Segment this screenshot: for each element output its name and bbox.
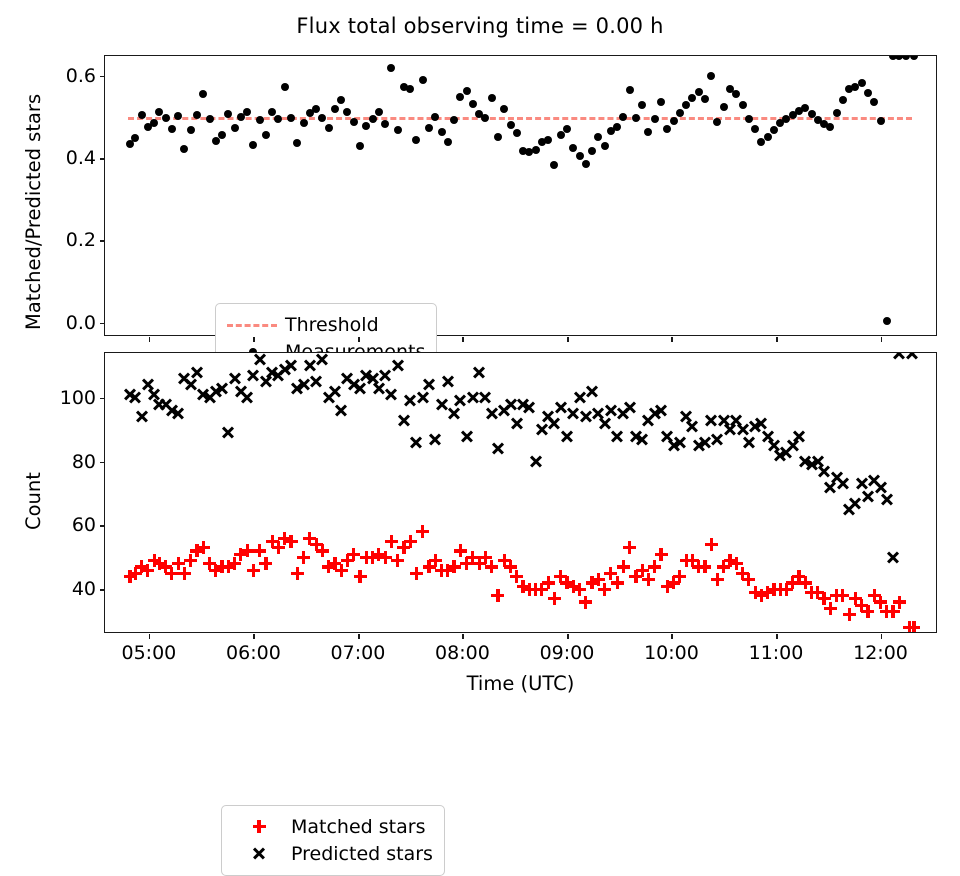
- data-point: [770, 126, 778, 134]
- data-point: [314, 353, 330, 367]
- data-point: [578, 594, 594, 610]
- data-point: [350, 118, 358, 126]
- data-point: [281, 83, 289, 91]
- data-point: [206, 115, 214, 123]
- y-axis-tick: [100, 462, 105, 464]
- data-point: [613, 123, 621, 131]
- data-point: [576, 152, 584, 160]
- data-point: [732, 90, 740, 98]
- data-point: [550, 161, 558, 169]
- ratio-plot-area: [105, 56, 936, 335]
- data-point: [653, 402, 669, 418]
- data-point: [609, 428, 625, 444]
- y-axis-tick: [100, 589, 105, 591]
- data-point: [883, 317, 891, 325]
- data-point: [544, 136, 552, 144]
- data-point: [408, 434, 424, 450]
- x-axis-tick: [881, 337, 883, 342]
- data-point: [651, 115, 659, 123]
- data-point: [337, 96, 345, 104]
- data-point: [902, 56, 910, 60]
- data-point: [318, 114, 326, 122]
- data-point: [150, 119, 158, 127]
- y-axis-tick: [100, 240, 105, 242]
- x-axis-tick: [462, 634, 464, 639]
- data-point: [609, 575, 625, 591]
- data-point: [682, 101, 690, 109]
- data-point: [509, 415, 525, 431]
- y-axis-label-top: Matched/Predicted stars: [22, 94, 45, 330]
- data-point: [375, 108, 383, 116]
- y-axis-tick: [100, 398, 105, 400]
- data-point: [231, 124, 239, 132]
- data-point: [891, 594, 907, 610]
- data-point: [325, 124, 333, 132]
- data-point: [193, 111, 201, 119]
- data-point: [713, 118, 721, 126]
- data-point: [287, 114, 295, 122]
- data-point: [189, 364, 205, 380]
- data-point: [739, 101, 747, 109]
- data-point: [507, 121, 515, 129]
- data-point: [791, 428, 807, 444]
- data-point: [906, 620, 922, 632]
- data-point: [343, 108, 351, 116]
- data-point: [421, 377, 437, 393]
- x-axis-tick-label: 10:00: [644, 642, 699, 664]
- legend-label: Predicted stars: [287, 843, 433, 865]
- data-point: [644, 128, 652, 136]
- data-point: [383, 387, 399, 403]
- data-point: [131, 134, 139, 142]
- data-point: [258, 556, 274, 572]
- data-point: [440, 374, 456, 390]
- y-axis-tick-label: 80: [72, 451, 96, 473]
- data-point: [701, 95, 709, 103]
- data-point: [427, 431, 443, 447]
- data-point: [584, 383, 600, 399]
- figure: Flux total observing time = 0.00 h Match…: [0, 0, 960, 720]
- data-point: [632, 114, 640, 122]
- data-point: [293, 139, 301, 147]
- data-point: [588, 147, 596, 155]
- x-axis-tick: [149, 634, 151, 639]
- data-point: [243, 108, 251, 116]
- data-point: [745, 115, 753, 123]
- y-axis-tick-label: 0.4: [66, 147, 96, 169]
- legend-label: Threshold: [281, 314, 379, 336]
- y-axis-tick-label: 0.2: [66, 229, 96, 251]
- data-point: [870, 98, 878, 106]
- data-point: [638, 101, 646, 109]
- x-axis-tick-label: 11:00: [749, 642, 804, 664]
- legend-count-panel: Matched stars Predicted stars: [221, 805, 445, 876]
- legend-item-threshold: Threshold: [225, 311, 425, 338]
- data-point: [415, 524, 431, 540]
- data-point: [490, 588, 506, 604]
- data-point: [670, 117, 678, 125]
- data-point: [283, 358, 299, 374]
- data-point: [268, 108, 276, 116]
- data-point: [672, 434, 688, 450]
- data-point: [741, 434, 757, 450]
- data-point: [653, 546, 669, 562]
- data-point: [626, 86, 634, 94]
- data-point: [138, 111, 146, 119]
- x-axis-tick: [776, 337, 778, 342]
- data-point: [212, 137, 220, 145]
- data-point: [835, 476, 851, 492]
- data-point: [333, 402, 349, 418]
- x-axis-tick: [776, 634, 778, 639]
- data-point: [546, 591, 562, 607]
- data-point: [396, 412, 412, 428]
- data-point: [490, 441, 506, 457]
- y-axis-tick-label: 100: [60, 387, 96, 409]
- data-point: [463, 87, 471, 95]
- data-point: [289, 565, 305, 581]
- data-point: [312, 105, 320, 113]
- data-point: [663, 125, 671, 133]
- x-axis-tick-label: 05:00: [122, 642, 177, 664]
- data-point: [764, 133, 772, 141]
- data-point: [688, 94, 696, 102]
- y-axis-tick-label: 0.0: [66, 312, 96, 334]
- data-point: [180, 145, 188, 153]
- x-axis-tick: [671, 337, 673, 342]
- data-point: [300, 119, 308, 127]
- data-point: [331, 105, 339, 113]
- data-point: [622, 540, 638, 556]
- x-axis-tick-label: 07:00: [331, 642, 386, 664]
- x-axis-tick: [358, 634, 360, 639]
- data-point: [471, 364, 487, 380]
- data-point: [601, 142, 609, 150]
- data-point: [425, 124, 433, 132]
- data-point: [751, 125, 759, 133]
- data-point: [362, 122, 370, 130]
- data-point: [199, 90, 207, 98]
- x-axis-tick: [567, 634, 569, 639]
- data-point: [622, 399, 638, 415]
- data-point: [839, 96, 847, 104]
- data-point: [134, 409, 150, 425]
- data-point: [477, 390, 493, 406]
- data-point: [381, 120, 389, 128]
- data-point: [450, 116, 458, 124]
- y-axis-tick: [100, 76, 105, 78]
- data-point: [885, 549, 901, 565]
- y-axis-tick: [100, 323, 105, 325]
- y-axis-tick-label: 60: [72, 514, 96, 536]
- data-point: [459, 428, 475, 444]
- data-point: [262, 131, 270, 139]
- data-point: [858, 79, 866, 87]
- data-point: [676, 109, 684, 117]
- data-point: [864, 89, 872, 97]
- x-axis-tick: [462, 337, 464, 342]
- data-point: [195, 540, 211, 556]
- data-point: [220, 425, 236, 441]
- data-point: [356, 142, 364, 150]
- x-axis-tick: [358, 337, 360, 342]
- data-point: [494, 133, 502, 141]
- data-point: [910, 56, 918, 60]
- x-axis-tick: [149, 337, 151, 342]
- data-point: [532, 146, 540, 154]
- data-point: [684, 418, 700, 434]
- data-point: [308, 374, 324, 390]
- x-axis-label: Time (UTC): [104, 672, 937, 695]
- data-point: [877, 117, 885, 125]
- data-point: [559, 428, 575, 444]
- x-axis-tick-label: 12:00: [853, 642, 908, 664]
- data-point: [444, 138, 452, 146]
- x-axis-tick: [567, 337, 569, 342]
- data-point: [594, 133, 602, 141]
- data-point: [274, 115, 282, 123]
- count-plot-area: [105, 353, 936, 632]
- x-axis-tick: [253, 634, 255, 639]
- data-point: [187, 126, 195, 134]
- data-point: [720, 103, 728, 111]
- x-axis-tick-label: 08:00: [435, 642, 490, 664]
- dashed-line-icon: [225, 315, 281, 335]
- data-point: [456, 93, 464, 101]
- data-point: [352, 569, 368, 585]
- data-point: [488, 94, 496, 102]
- data-point: [239, 390, 255, 406]
- data-point: [469, 100, 477, 108]
- x-axis-tick-label: 09:00: [540, 642, 595, 664]
- x-axis-tick: [253, 337, 255, 342]
- data-point: [283, 533, 299, 549]
- ratio-panel-axes: Threshold Measurements 0.00.20.40.6: [104, 55, 937, 336]
- data-point: [369, 115, 377, 123]
- data-point: [249, 141, 257, 149]
- cross-marker-icon: [231, 844, 287, 864]
- chart-title: Flux total observing time = 0.00 h: [0, 14, 960, 38]
- data-point: [412, 136, 420, 144]
- data-point: [500, 105, 508, 113]
- data-point: [707, 72, 715, 80]
- data-point: [419, 76, 427, 84]
- legend-item-matched-stars: Matched stars: [231, 813, 433, 840]
- data-point: [833, 109, 841, 117]
- data-point: [218, 131, 226, 139]
- data-point: [569, 144, 577, 152]
- data-point: [406, 85, 414, 93]
- data-point: [162, 114, 170, 122]
- data-point: [394, 126, 402, 134]
- x-axis-tick: [881, 634, 883, 639]
- y-axis-label-bottom: Count: [22, 472, 45, 530]
- data-point: [438, 128, 446, 136]
- data-point: [904, 353, 920, 361]
- data-point: [672, 569, 688, 585]
- data-point: [174, 112, 182, 120]
- data-point: [387, 64, 395, 72]
- y-axis-tick: [100, 158, 105, 160]
- data-point: [256, 116, 264, 124]
- data-point: [557, 131, 565, 139]
- data-point: [168, 125, 176, 133]
- x-axis-tick-label: 06:00: [226, 642, 281, 664]
- data-point: [521, 399, 537, 415]
- y-axis-tick-label: 0.6: [66, 65, 96, 87]
- plus-marker-icon: [231, 817, 287, 837]
- data-point: [582, 160, 590, 168]
- data-point: [657, 98, 665, 106]
- data-point: [563, 125, 571, 133]
- data-point: [390, 358, 406, 374]
- x-axis-tick: [671, 634, 673, 639]
- data-point: [513, 129, 521, 137]
- data-point: [528, 454, 544, 470]
- data-point: [879, 492, 895, 508]
- data-point: [703, 537, 719, 553]
- data-point: [826, 123, 834, 131]
- legend-item-predicted-stars: Predicted stars: [231, 840, 433, 867]
- y-axis-tick: [100, 525, 105, 527]
- legend-label: Matched stars: [287, 816, 425, 838]
- data-point: [170, 406, 186, 422]
- data-point: [634, 431, 650, 447]
- count-panel-axes: Matched stars Predicted stars 4060801000…: [104, 352, 937, 633]
- y-axis-tick-label: 40: [72, 578, 96, 600]
- data-point: [481, 114, 489, 122]
